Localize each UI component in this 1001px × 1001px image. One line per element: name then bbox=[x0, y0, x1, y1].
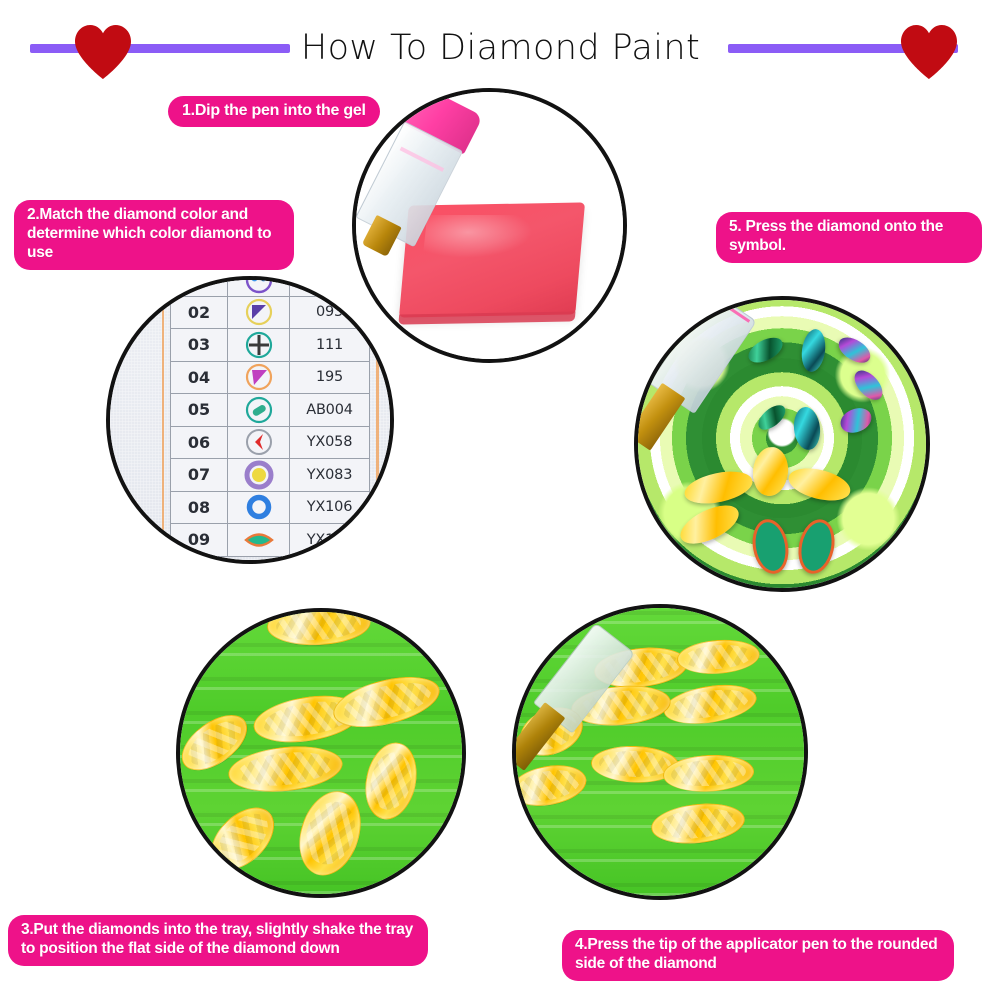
table-row: 02 093 bbox=[170, 297, 370, 330]
table-row: 09 YX125 bbox=[170, 524, 370, 557]
cell-number: 09 bbox=[170, 524, 228, 556]
photo-step-5 bbox=[634, 296, 930, 592]
pen-dipping-into-gel-image bbox=[356, 92, 623, 359]
step-4-label: 4.Press the tip of the applicator pen to… bbox=[562, 930, 954, 981]
page-title: How To Diamond Paint bbox=[0, 18, 1001, 78]
leaf-symbol bbox=[244, 525, 274, 555]
cell-code: YX058 bbox=[290, 427, 370, 459]
table-row: 03 111 bbox=[170, 329, 370, 362]
cell-code: YX106 bbox=[290, 492, 370, 524]
cell-number: 04 bbox=[170, 362, 228, 394]
cell-symbol bbox=[228, 459, 290, 491]
ring-symbol bbox=[244, 492, 274, 522]
table-row: 06 YX058 bbox=[170, 427, 370, 460]
cell-symbol bbox=[228, 492, 290, 524]
cell-symbol bbox=[228, 297, 290, 329]
color-legend-table: 01 020 02 bbox=[170, 276, 370, 557]
photo-step-3 bbox=[176, 608, 466, 898]
step-1-label: 1.Dip the pen into the gel bbox=[168, 96, 380, 127]
cell-number: 01 bbox=[170, 276, 228, 296]
step-3-label: 3.Put the diamonds into the tray, slight… bbox=[8, 915, 428, 966]
cell-code: YX083 bbox=[290, 459, 370, 491]
page-header: How To Diamond Paint bbox=[0, 18, 1001, 78]
diamonds-in-tray-image bbox=[180, 612, 462, 894]
filled-dot-symbol bbox=[244, 460, 274, 490]
double-dot-circle-symbol bbox=[244, 276, 274, 295]
photo-step-1 bbox=[352, 88, 627, 363]
pen-picking-up-diamond-image bbox=[516, 608, 804, 896]
cell-symbol bbox=[228, 329, 290, 361]
cell-code: 111 bbox=[290, 329, 370, 361]
cell-code: AB004 bbox=[290, 394, 370, 426]
table-row: 07 YX083 bbox=[170, 459, 370, 492]
gel-pad-highlight bbox=[423, 215, 534, 258]
table-row: 05 AB004 bbox=[170, 394, 370, 427]
cell-code: YX125 bbox=[290, 524, 370, 556]
step-2-label: 2.Match the diamond color and determine … bbox=[14, 200, 294, 270]
table-row: 01 020 bbox=[170, 276, 370, 297]
photo-step-2: 01 020 02 bbox=[106, 276, 394, 564]
chart-paper: 01 020 02 bbox=[110, 280, 390, 560]
infographic-canvas: How To Diamond Paint 01 bbox=[0, 0, 1001, 1001]
cell-symbol bbox=[228, 276, 290, 296]
pen-metal-tip bbox=[634, 383, 686, 451]
orange-guide-line bbox=[376, 280, 379, 560]
cell-code: 093 bbox=[290, 297, 370, 329]
table-row: 04 195 bbox=[170, 362, 370, 395]
cell-symbol bbox=[228, 394, 290, 426]
plus-symbol bbox=[244, 330, 274, 360]
capsule-symbol bbox=[244, 395, 274, 425]
cell-code: 195 bbox=[290, 362, 370, 394]
triangle-symbol bbox=[244, 362, 274, 392]
cell-number: 08 bbox=[170, 492, 228, 524]
arrow-left-symbol bbox=[244, 427, 274, 457]
cell-number: 03 bbox=[170, 329, 228, 361]
cell-symbol bbox=[228, 524, 290, 556]
cell-number: 05 bbox=[170, 394, 228, 426]
diamond-pressed-onto-symbol-image bbox=[638, 300, 926, 588]
cell-number: 06 bbox=[170, 427, 228, 459]
cell-number: 02 bbox=[170, 297, 228, 329]
orange-guide-line bbox=[162, 280, 164, 560]
pen-ring bbox=[399, 147, 444, 173]
table-row: 08 YX106 bbox=[170, 492, 370, 525]
cell-symbol bbox=[228, 427, 290, 459]
triangle-symbol bbox=[244, 297, 274, 327]
color-chart-image: 01 020 02 bbox=[110, 280, 390, 560]
cell-number: 07 bbox=[170, 459, 228, 491]
cell-symbol bbox=[228, 362, 290, 394]
step-5-label: 5. Press the diamond onto the symbol. bbox=[716, 212, 982, 263]
photo-step-4 bbox=[512, 604, 808, 900]
